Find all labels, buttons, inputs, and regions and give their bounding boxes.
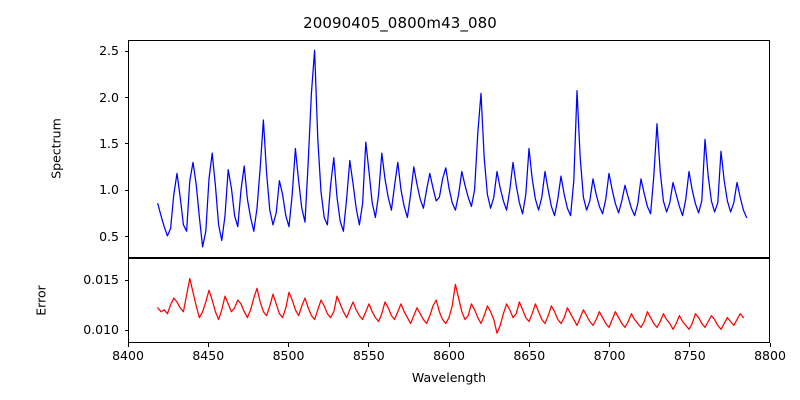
- x-tick-label: 8650: [499, 348, 559, 363]
- y-tick-label-spectrum: 1.0: [59, 182, 119, 197]
- y-tick-label-spectrum: 2.5: [59, 43, 119, 58]
- x-tick-label: 8450: [178, 348, 238, 363]
- x-tick-label: 8550: [339, 348, 399, 363]
- x-tick-label: 8800: [740, 348, 800, 363]
- y-tick-label-spectrum: 0.5: [59, 229, 119, 244]
- x-tick-mark: [208, 343, 209, 347]
- x-tick-mark: [288, 343, 289, 347]
- spectrum-panel: [128, 40, 770, 258]
- x-tick-mark: [609, 343, 610, 347]
- x-tick-mark: [529, 343, 530, 347]
- y-tick-label-error: 0.015: [59, 272, 119, 287]
- error-line-plot: [129, 259, 769, 342]
- x-tick-label: 8400: [98, 348, 158, 363]
- x-axis-label: Wavelength: [128, 370, 770, 385]
- x-tick-label: 8750: [660, 348, 720, 363]
- y-axis-label-error: Error: [34, 251, 49, 351]
- y-tick-mark-spectrum: [125, 97, 129, 98]
- spectrum-line-plot: [129, 41, 769, 257]
- y-tick-mark-error: [125, 330, 129, 331]
- y-tick-mark-spectrum: [125, 190, 129, 191]
- y-tick-mark-spectrum: [125, 51, 129, 52]
- spectrum-trace: [158, 50, 747, 247]
- x-tick-label: 8500: [259, 348, 319, 363]
- x-tick-label: 8600: [419, 348, 479, 363]
- x-tick-label: 8700: [580, 348, 640, 363]
- figure-title: 20090405_0800m43_080: [0, 14, 800, 32]
- spectrum-figure: 20090405_0800m43_080 Spectrum Error Wave…: [0, 0, 800, 400]
- x-tick-mark: [689, 343, 690, 347]
- y-tick-label-spectrum: 1.5: [59, 136, 119, 151]
- x-tick-mark: [770, 343, 771, 347]
- x-tick-mark: [449, 343, 450, 347]
- x-tick-mark: [128, 343, 129, 347]
- error-panel: [128, 258, 770, 343]
- y-tick-label-error: 0.010: [59, 322, 119, 337]
- y-tick-mark-error: [125, 280, 129, 281]
- x-tick-mark: [368, 343, 369, 347]
- error-trace: [158, 279, 744, 334]
- y-tick-label-spectrum: 2.0: [59, 90, 119, 105]
- y-tick-mark-spectrum: [125, 236, 129, 237]
- y-tick-mark-spectrum: [125, 143, 129, 144]
